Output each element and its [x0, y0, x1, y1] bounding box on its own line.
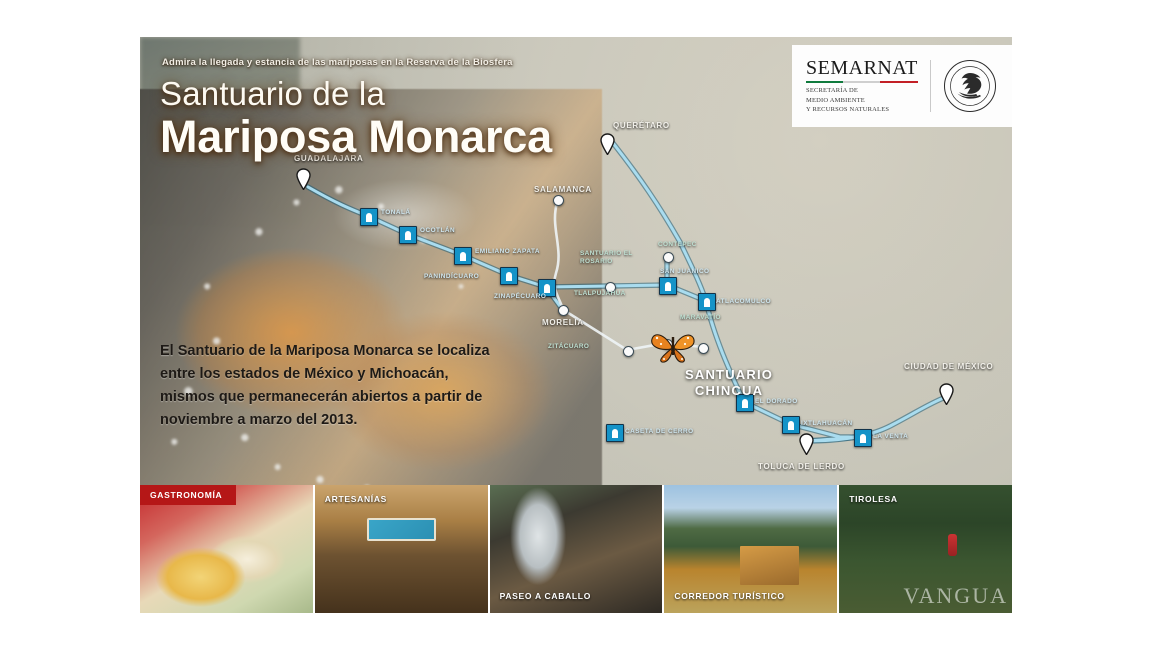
photo-cell-artesanias[interactable]: ARTESANÍAS — [315, 485, 490, 613]
poster-title-1: Santuario de la — [160, 75, 385, 113]
semarnat-subtitle-line2: MEDIO AMBIENTE — [806, 96, 918, 105]
sanctuary-label: SANTUARIO CHINCUA — [685, 367, 773, 400]
area-label-maravatio: MARAVATÍO — [680, 314, 721, 322]
photo-strip: GASTRONOMÍA ARTESANÍAS PASEO A CABALLO C… — [140, 485, 1012, 613]
photo-caption-tirolesa: TIROLESA — [849, 494, 898, 504]
mexican-coat-of-arms-seal-icon — [943, 59, 997, 113]
area-label-santuario-el-rosario: SANTUARIO EL ROSARIO — [580, 250, 642, 267]
watermark: VANGUA — [903, 583, 1008, 609]
city-label-toluca-de-lerdo: TOLUCA DE LERDO — [758, 462, 845, 471]
photo-cell-corredor-turistico[interactable]: CORREDOR TURÍSTICO — [664, 485, 839, 613]
semarnat-logo: SEMARNAT SECRETARÍA DE MEDIO AMBIENTE Y … — [792, 45, 1012, 127]
map-node-salamanca[interactable] — [553, 195, 564, 206]
page-canvas: GUADALAJARA QUERÉTARO SALAMANCA MORELIA … — [0, 0, 1152, 648]
crafts-photo — [315, 485, 488, 613]
tollbooth-san-juanico[interactable] — [659, 277, 677, 295]
map-pin-toluca-de-lerdo[interactable] — [799, 433, 814, 455]
poster-title-2: Mariposa Monarca — [160, 111, 552, 163]
booth-label-atlacomulco: ATLACOMULCO — [716, 298, 771, 305]
map-node-maravatio[interactable] — [698, 343, 709, 354]
photo-caption-corredor-turistico: CORREDOR TURÍSTICO — [674, 591, 784, 601]
city-label-ciudad-de-mexico: CIUDAD DE MÉXICO — [904, 362, 993, 371]
area-label-tlalpujahua: TLALPUJAHUA — [574, 290, 626, 298]
tollbooth-ixtlahuacan[interactable] — [782, 416, 800, 434]
semarnat-subtitle-line1: SECRETARÍA DE — [806, 86, 918, 95]
booth-label-emiliano-zapata: EMILIANO ZAPATA — [475, 248, 540, 255]
logo-divider — [930, 60, 931, 112]
area-label-zitacuaro: ZITÁCUARO — [548, 343, 589, 351]
booth-label-la-venta: LA VENTA — [873, 433, 908, 440]
photo-cell-tirolesa[interactable]: TIROLESA VANGUA — [839, 485, 1012, 613]
tollbooth-emiliano-zapata[interactable] — [454, 247, 472, 265]
poster-description: El Santuario de la Mariposa Monarca se l… — [160, 340, 490, 432]
booth-label-caseta-de-cerro: CASETA DE CERRO — [625, 428, 694, 435]
tollbooth-tonala[interactable] — [360, 208, 378, 226]
monarch-butterfly-icon — [650, 329, 696, 363]
photo-caption-artesanias: ARTESANÍAS — [325, 494, 387, 504]
semarnat-subtitle: SECRETARÍA DE MEDIO AMBIENTE Y RECURSOS … — [806, 86, 918, 114]
booth-label-tonala: TONALÁ — [381, 209, 411, 216]
booth-label-ixtlahuacan: IXTLAHUACÁN — [801, 420, 853, 427]
city-label-morelia: MORELIA — [542, 318, 584, 327]
tollbooth-atlacomulco[interactable] — [698, 293, 716, 311]
city-label-queretaro: QUERÉTARO — [613, 121, 670, 130]
city-label-salamanca: SALAMANCA — [534, 185, 592, 194]
map-node-morelia[interactable] — [558, 305, 569, 316]
sanctuary-label-line2: CHINCUA — [695, 383, 763, 398]
tollbooth-caseta-de-cerro[interactable] — [606, 424, 624, 442]
tollbooth-la-venta[interactable] — [854, 429, 872, 447]
tollbooth-ocotlan[interactable] — [399, 226, 417, 244]
tollbooth-panindicuaro[interactable] — [500, 267, 518, 285]
photo-caption-gastronomia: GASTRONOMÍA — [140, 485, 236, 505]
map-node-zitacuaro[interactable] — [623, 346, 634, 357]
map-pin-ciudad-de-mexico[interactable] — [939, 383, 954, 405]
booth-label-san-juanico: SAN JUANICO — [660, 268, 710, 275]
booth-label-zinapecuaro: ZINAPÉCUARO — [494, 293, 546, 300]
photo-cell-gastronomia[interactable]: GASTRONOMÍA — [140, 485, 315, 613]
poster: GUADALAJARA QUERÉTARO SALAMANCA MORELIA … — [140, 37, 1012, 613]
booth-label-ocotlan: OCOTLÁN — [420, 227, 455, 234]
map-node-contepec[interactable] — [663, 252, 674, 263]
area-label-contepec: CONTEPEC — [658, 241, 697, 249]
semarnat-wordmark: SEMARNAT — [806, 58, 918, 78]
sanctuary-label-line1: SANTUARIO — [685, 367, 773, 382]
tricolor-rule — [806, 81, 918, 84]
map-pin-queretaro[interactable] — [600, 133, 615, 155]
booth-label-panindicuaro: PANINDÍCUARO — [424, 273, 479, 280]
poster-kicker: Admira la llegada y estancia de las mari… — [162, 57, 513, 68]
photo-caption-paseo-a-caballo: PASEO A CABALLO — [500, 591, 591, 601]
map-pin-guadalajara[interactable] — [296, 168, 311, 190]
semarnat-subtitle-line3: Y RECURSOS NATURALES — [806, 105, 918, 114]
semarnat-wordmark-block: SEMARNAT SECRETARÍA DE MEDIO AMBIENTE Y … — [792, 58, 918, 115]
photo-cell-paseo-a-caballo[interactable]: PASEO A CABALLO — [490, 485, 665, 613]
